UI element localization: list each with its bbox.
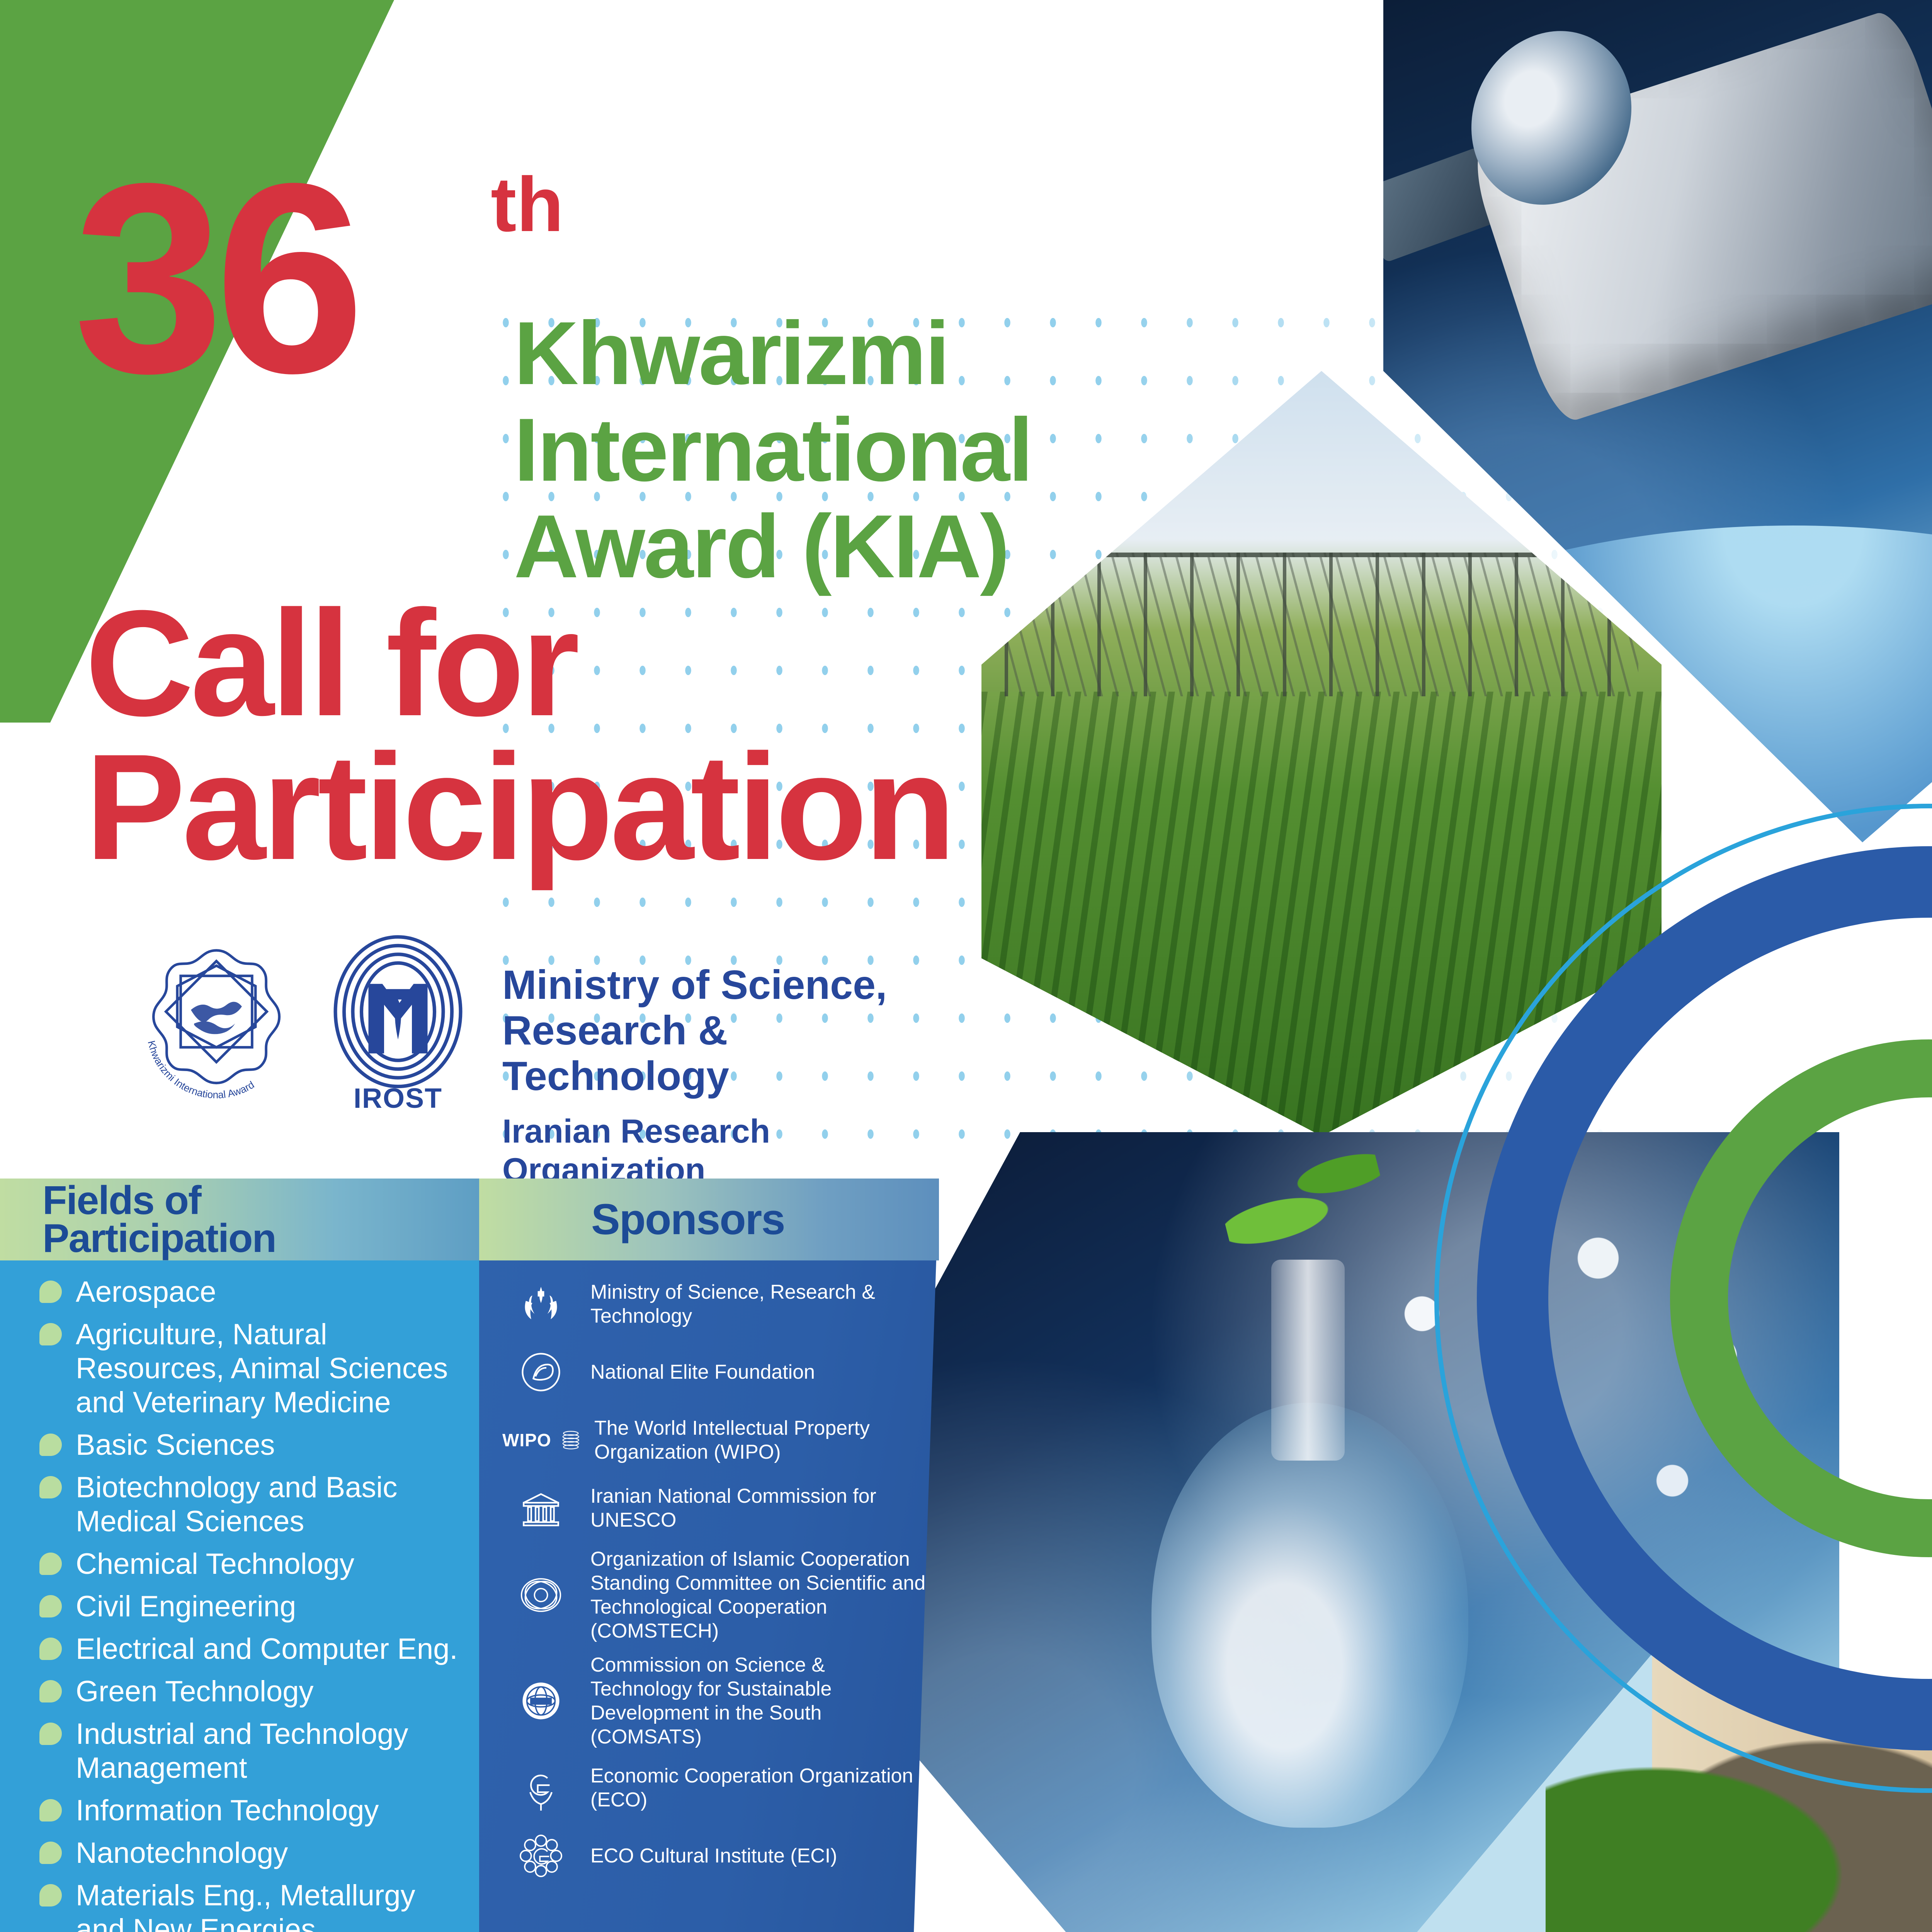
- leaf-bullet-icon: [39, 1842, 62, 1864]
- field-label: Aerospace: [76, 1276, 216, 1308]
- leaf-bullet-icon: [39, 1595, 62, 1617]
- field-list-item: Nanotechnology: [37, 1836, 462, 1870]
- field-label: Biotechnology and Basic Medical Sciences: [76, 1471, 397, 1538]
- field-list-item: Materials Eng., Metallurgy and New Energ…: [37, 1879, 462, 1932]
- leaf-bullet-icon: [39, 1884, 62, 1906]
- sponsor-name: Iranian National Commission for UNESCO: [590, 1484, 931, 1532]
- concentric-rings-decoration: [1434, 804, 1932, 1793]
- leaf-bullet-icon: [39, 1680, 62, 1702]
- sponsors-heading: Sponsors: [479, 1200, 785, 1239]
- edition-suffix: th: [491, 166, 564, 243]
- leaf-bullet-icon: [39, 1281, 62, 1303]
- field-label: Information Technology: [76, 1794, 379, 1827]
- ministry-line3: Iranian Research Organization: [502, 1112, 958, 1189]
- sponsor-list-item: Organization of Islamic Cooperation Stan…: [479, 1547, 931, 1643]
- sponsor-name: Organization of Islamic Cooperation Stan…: [590, 1547, 931, 1643]
- sponsor-name: Commission on Science & Technology for S…: [590, 1653, 931, 1749]
- ministry-line2: Research & Technology: [502, 1008, 958, 1099]
- sponsor-name: The World Intellectual Property Organiza…: [594, 1416, 931, 1464]
- national-elite-foundation-icon: [502, 1343, 580, 1401]
- ministry-line1: Ministry of Science,: [502, 962, 958, 1008]
- irost-logo: IROST: [328, 931, 468, 1109]
- sponsor-list-item: WIPOThe World Intellectual Property Orga…: [479, 1411, 931, 1469]
- field-label: Green Technology: [76, 1675, 313, 1708]
- unesco-icon: [502, 1479, 580, 1537]
- organization-logos: Khwarizmi International Award IROST: [131, 931, 468, 1109]
- field-list-item: Industrial and Technology Management: [37, 1717, 462, 1785]
- sponsor-list-item: Economic Cooperation Organization (ECO): [479, 1759, 931, 1817]
- poster-root: 36 th Khwarizmi International Award (KIA…: [0, 0, 1932, 1932]
- comsats-icon: [502, 1672, 580, 1730]
- sponsor-name: Economic Cooperation Organization (ECO): [590, 1764, 931, 1812]
- sponsor-list-item: Iranian National Commission for UNESCO: [479, 1479, 931, 1537]
- award-title-line3: Award (KIA): [514, 498, 1032, 595]
- fields-list: AerospaceAgriculture, Natural Resources,…: [37, 1275, 462, 1932]
- sponsors-list: Ministry of Science, Research & Technolo…: [479, 1275, 931, 1895]
- kia-seal-logo: Khwarizmi International Award: [131, 935, 301, 1105]
- field-list-item: Green Technology: [37, 1675, 462, 1709]
- field-list-item: Agriculture, Natural Resources, Animal S…: [37, 1318, 462, 1420]
- field-list-item: Biotechnology and Basic Medical Sciences: [37, 1471, 462, 1539]
- award-title: Khwarizmi International Award (KIA): [514, 305, 1032, 595]
- field-list-item: Aerospace: [37, 1275, 462, 1309]
- award-title-line1: Khwarizmi: [514, 305, 1032, 402]
- call-line2: Participation: [85, 735, 952, 879]
- call-for-participation-headline: Call for Participation: [85, 591, 952, 879]
- leaf-bullet-icon: [39, 1799, 62, 1821]
- field-list-item: Information Technology: [37, 1794, 462, 1828]
- field-label: Nanotechnology: [76, 1837, 288, 1869]
- wipo-icon: WIPO: [502, 1411, 583, 1469]
- sponsor-list-item: Commission on Science & Technology for S…: [479, 1653, 931, 1749]
- edition-number: 36: [73, 155, 356, 402]
- field-list-item: Electrical and Computer Eng.: [37, 1632, 462, 1666]
- leaf-bullet-icon: [39, 1723, 62, 1745]
- sponsor-list-item: National Elite Foundation: [479, 1343, 931, 1401]
- fields-and-sponsors-band: Fields of Participation Sponsors Aerospa…: [0, 1179, 939, 1932]
- field-label: Electrical and Computer Eng.: [76, 1633, 457, 1665]
- award-title-line2: International: [514, 402, 1032, 498]
- field-label: Industrial and Technology Management: [76, 1718, 408, 1784]
- field-list-item: Basic Sciences: [37, 1428, 462, 1462]
- fields-header: Fields of Participation: [0, 1179, 479, 1260]
- field-label: Agriculture, Natural Resources, Animal S…: [76, 1318, 448, 1419]
- sponsor-name: ECO Cultural Institute (ECI): [590, 1844, 837, 1868]
- sponsor-name: National Elite Foundation: [590, 1360, 815, 1384]
- field-label: Civil Engineering: [76, 1590, 296, 1623]
- fields-heading-line2: Participation: [43, 1216, 276, 1261]
- leaf-bullet-icon: [39, 1553, 62, 1575]
- eci-icon: [502, 1827, 580, 1885]
- leaf-bullet-icon: [39, 1434, 62, 1456]
- field-label: Chemical Technology: [76, 1548, 354, 1580]
- iran-emblem-icon: [502, 1275, 580, 1333]
- sponsors-header: Sponsors: [479, 1179, 939, 1260]
- irost-seal-caption: IROST: [328, 1083, 468, 1114]
- wipo-wordmark: WIPO: [502, 1430, 551, 1451]
- comstech-icon: [502, 1566, 580, 1624]
- field-label: Basic Sciences: [76, 1429, 275, 1461]
- leaf-bullet-icon: [39, 1323, 62, 1345]
- field-list-item: Chemical Technology: [37, 1547, 462, 1581]
- leaf-bullet-icon: [39, 1638, 62, 1660]
- field-list-item: Civil Engineering: [37, 1590, 462, 1624]
- call-line1: Call for: [85, 591, 952, 735]
- field-label: Materials Eng., Metallurgy and New Energ…: [76, 1879, 415, 1932]
- eco-icon: [502, 1759, 580, 1817]
- sponsor-list-item: Ministry of Science, Research & Technolo…: [479, 1275, 931, 1333]
- sponsor-list-item: ECO Cultural Institute (ECI): [479, 1827, 931, 1885]
- leaf-bullet-icon: [39, 1476, 62, 1498]
- sponsor-name: Ministry of Science, Research & Technolo…: [590, 1280, 931, 1328]
